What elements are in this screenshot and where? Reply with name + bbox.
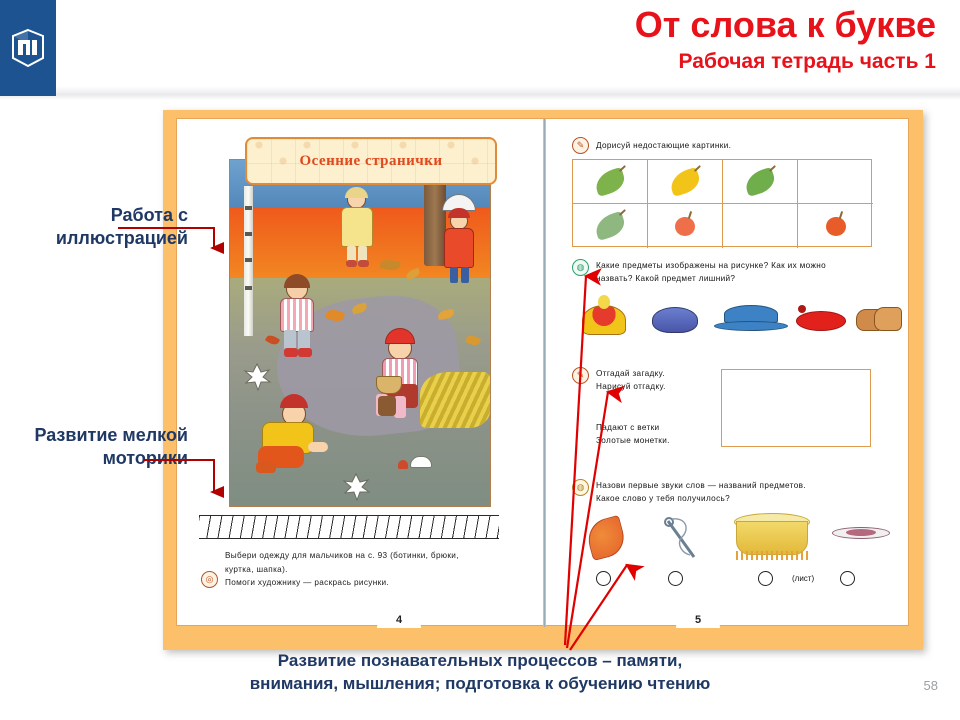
task2-line1: Какие предметы изображены на рисунке? Ка… [596,259,886,273]
child-figure [256,396,332,476]
task4-line1: Назови первые звуки слов — названий пред… [596,479,886,493]
hat-pompom-icon [598,295,610,309]
child-figure [276,278,320,364]
answer-circle[interactable] [840,571,855,586]
task-line: Выбери одежду для мальчиков на с. 93 (бо… [225,549,503,563]
task4-line2: Какое слово у тебя получилось? [596,492,886,506]
banner-title: Осенние странички [299,153,442,170]
publisher-logo [0,0,56,96]
pencil-icon: ✎ [572,137,589,154]
blue-cap-icon [652,307,698,333]
header: От слова к букве Рабочая тетрадь часть 1 [635,6,936,73]
leaf-icon [592,211,627,241]
white-maple-leaf [242,362,272,392]
handwriting-practice-lines [199,515,499,539]
berry-icon [675,217,695,236]
task2-line2: назвать? Какой предмет лишний? [596,272,886,286]
publisher-logo-icon [10,28,46,68]
tablecloth-fringe-icon [736,551,808,560]
globe-icon: ◍ [572,259,589,276]
page-subtitle: Рабочая тетрадь часть 1 [635,51,936,73]
grid-cell[interactable] [723,160,798,204]
page-number-right: 5 [676,606,720,628]
mushroom-icon [398,460,408,469]
needle-and-thread-icon [660,513,702,563]
white-maple-leaf [340,472,372,502]
plate-rim-icon [846,529,876,536]
fedora-brim-icon [714,321,788,331]
grid-cell[interactable] [648,160,723,204]
annotation-line: Работа с [10,204,188,227]
bottom-caption: Развитие познавательных процессов – памя… [100,650,860,696]
annotation-illustration-work: Работа с иллюстрацией [10,204,188,249]
grid-cell[interactable] [573,204,648,248]
basket-icon [376,376,402,394]
child-figure [338,190,376,268]
objects-row-hats [578,295,878,339]
left-page-task-text: Выбери одежду для мальчиков на с. 93 (бо… [225,549,503,590]
answer-label: (лист) [792,574,814,583]
leaf-icon [742,166,777,196]
annotation-line: Развитие мелкой [2,424,188,447]
task1-text: Дорисуй недостающие картинки. [596,139,876,153]
book-pages: Осенние странички ◎ Выбери одежду для ма… [176,118,909,626]
task-line: куртка, шапка). [225,563,503,577]
annotation-fine-motor: Развитие мелкой моторики [2,424,188,469]
grid-cell[interactable] [573,160,648,204]
picture-grid [572,159,872,247]
pencil-icon: ✎ [572,367,589,384]
page-number-left: 4 [377,606,421,628]
top-divider-band [0,86,960,100]
brown-shoe-icon [874,307,902,331]
autumn-leaf-icon [584,515,629,561]
page-banner: Осенние странички [245,137,497,185]
leaf-icon [592,166,627,196]
mushroom-icon [410,456,432,468]
slide-number: 58 [924,678,938,693]
answer-circle[interactable] [758,571,773,586]
annotation-line: иллюстрацией [10,227,188,250]
grid-cell-empty[interactable] [723,204,798,248]
draw-answer-box[interactable] [721,369,871,447]
book-spread: Осенние странички ◎ Выбери одежду для ма… [163,110,923,650]
caption-line: внимания, мышления; подготовка к обучени… [100,673,860,696]
right-page: ✎ Дорисуй недостающие картинки. ◍ Какие … [546,119,910,627]
autumn-children-illustration [229,159,491,507]
answer-circle[interactable] [668,571,683,586]
annotation-line: моторики [2,447,188,470]
coin-icon: ◎ [201,571,218,588]
leaf-icon [667,166,702,196]
grid-cell[interactable] [798,204,873,248]
grid-cell[interactable] [648,204,723,248]
red-beret-icon [796,311,846,331]
globe-icon: ◍ [572,479,589,496]
beret-stem-icon [798,305,806,313]
answer-circle[interactable] [596,571,611,586]
task-line: Помоги художнику — раскрась рисунки. [225,576,503,590]
caption-line: Развитие познавательных процессов – памя… [100,650,860,673]
left-page: Осенние странички ◎ Выбери одежду для ма… [177,119,543,627]
objects-row-sounds [578,511,878,567]
answer-circles-row [578,571,878,589]
child-figure [442,212,476,290]
page-title: От слова к букве [635,6,936,44]
tablecloth-icon [736,521,808,555]
grid-cell-empty[interactable] [798,160,873,204]
berry-icon [826,217,846,236]
knitted-hat-icon [582,305,626,335]
